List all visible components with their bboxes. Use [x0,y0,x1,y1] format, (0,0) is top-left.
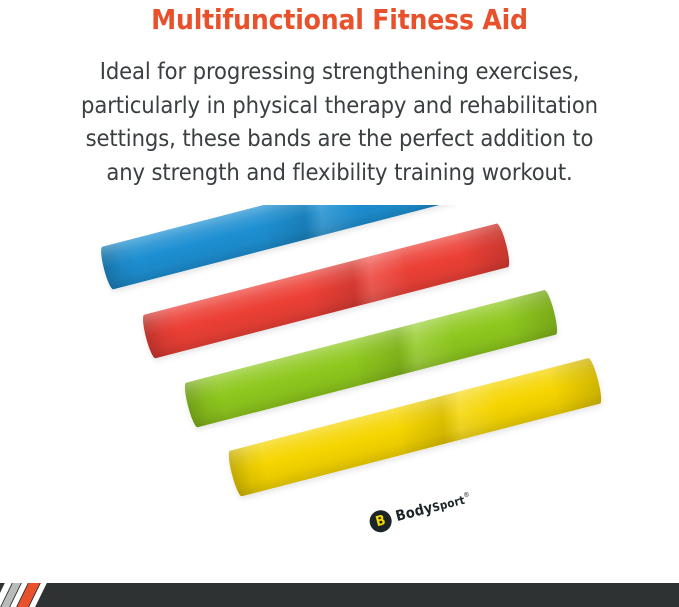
description-line: settings, these bands are the perfect ad… [40,122,639,156]
band-logo-yellow: B BodySport® [367,487,473,534]
band-tip [504,289,559,345]
band-tip [405,205,458,211]
bodysport-b-icon: B [367,508,394,535]
product-infographic-page: Multifunctional Fitness Aid Ideal for pr… [0,0,679,607]
band-fold [394,384,501,454]
band-curl [226,443,271,497]
description-line: Ideal for progressing strengthening exer… [40,55,639,89]
page-title: Multifunctional Fitness Aid [0,5,679,36]
band-tip [548,357,604,414]
description-paragraph: Ideal for progressing strengthening exer… [40,55,639,189]
band-fold [306,249,411,317]
brand-word-body: Body [394,500,434,525]
band-tip [457,223,511,278]
band-fold [259,205,361,249]
bodysport-wordmark: BodySport® [394,490,473,525]
brand-word-sport: Sport [431,493,466,515]
band-curl [140,307,184,359]
product-photo: B BodySport® B BodySport® [0,205,679,583]
band-curl [98,240,140,291]
description-line: any strength and flexibility training wo… [40,156,639,190]
band-curl [182,375,226,428]
footer-bar [0,583,679,607]
registered-mark: ® [463,490,471,499]
band-fold [351,316,458,385]
description-line: particularly in physical therapy and reh… [40,89,639,123]
bodysport-b-letter: B [374,513,387,529]
